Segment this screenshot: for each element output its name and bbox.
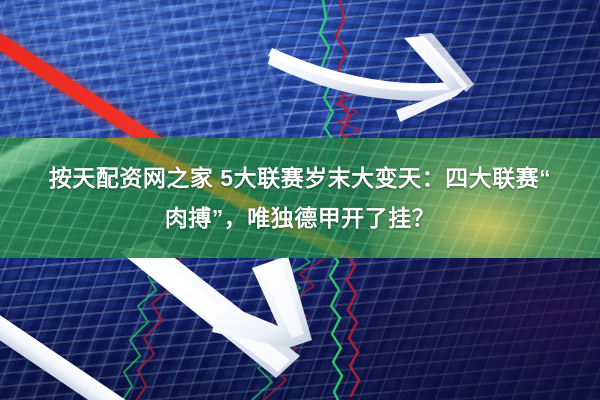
article-thumbnail-image: 按天配资网之家 5大联赛岁末大变天：四大联赛“ 肉搏”，唯独德甲开了挂？ <box>0 0 600 400</box>
headline-text-block: 按天配资网之家 5大联赛岁末大变天：四大联赛“ 肉搏”，唯独德甲开了挂？ <box>0 138 600 258</box>
headline-line-2: 肉搏”，唯独德甲开了挂？ <box>165 198 436 238</box>
white-diagonal-arrow-down-right-icon <box>120 240 312 378</box>
headline-line-1: 按天配资网之家 5大联赛岁末大变天：四大联赛“ <box>49 158 551 198</box>
headline-band: 按天配资网之家 5大联赛岁末大变天：四大联赛“ 肉搏”，唯独德甲开了挂？ <box>0 138 600 258</box>
